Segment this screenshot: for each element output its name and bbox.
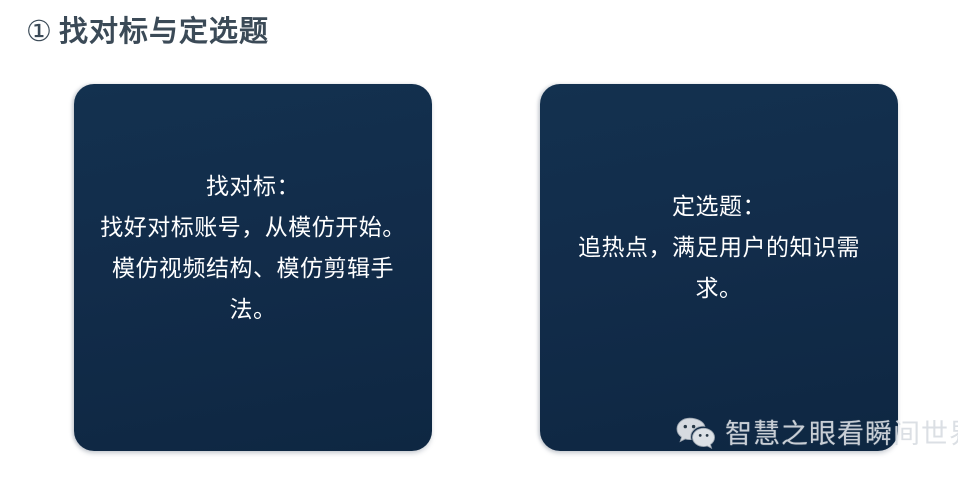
card-body: 找好对标账号，从模仿开始。模仿视频结构、模仿剪辑手法。 <box>94 207 412 330</box>
card-heading: 定选题： <box>560 186 878 227</box>
title-number-icon: ① <box>26 16 53 48</box>
content-card-find-benchmark: 找对标：找好对标账号，从模仿开始。模仿视频结构、模仿剪辑手法。 <box>74 84 432 451</box>
card-text-block: 定选题：追热点，满足用户的知识需求。 <box>560 186 878 309</box>
content-card-choose-topic: 定选题：追热点，满足用户的知识需求。 <box>540 84 898 451</box>
card-text-block: 找对标：找好对标账号，从模仿开始。模仿视频结构、模仿剪辑手法。 <box>94 166 412 330</box>
card-body: 追热点，满足用户的知识需求。 <box>560 227 878 309</box>
card-heading: 找对标： <box>94 166 412 207</box>
page-title: ①找对标与定选题 <box>26 12 269 52</box>
page-title-text: 找对标与定选题 <box>59 16 269 48</box>
